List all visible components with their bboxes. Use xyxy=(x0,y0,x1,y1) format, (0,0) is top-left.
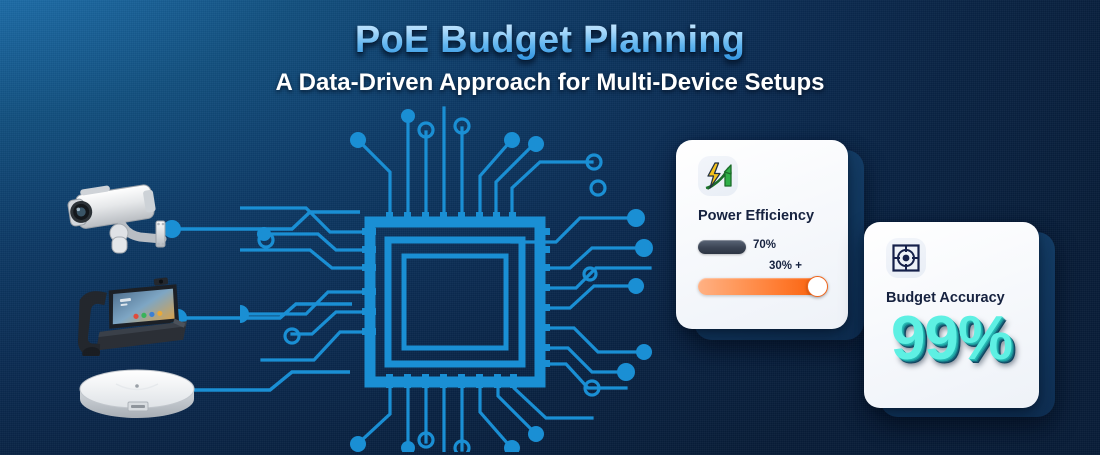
card-surface: Power Efficiency 70% 30% + xyxy=(676,140,848,329)
target-crosshair-icon xyxy=(886,238,926,278)
accuracy-value: 99% xyxy=(864,308,1039,370)
device-ip-phone[interactable] xyxy=(74,271,204,356)
card-surface: Budget Accuracy 99% xyxy=(864,222,1039,408)
efficiency-progress-label: 70% xyxy=(753,239,776,251)
efficiency-slider[interactable] xyxy=(698,278,826,295)
device-wireless-access-point[interactable] xyxy=(72,362,202,420)
page-title: PoE Budget Planning xyxy=(0,20,1100,61)
hero-banner: Power Efficiency 70% 30% + Budget Accura… xyxy=(0,0,1100,455)
device-ip-camera[interactable] xyxy=(62,163,202,263)
budget-accuracy-card[interactable]: Budget Accuracy 99% xyxy=(864,222,1064,422)
slider-knob[interactable] xyxy=(807,276,828,297)
efficiency-progress-bar[interactable] xyxy=(698,240,746,254)
power-efficiency-card[interactable]: Power Efficiency 70% 30% + xyxy=(676,140,866,340)
processor-chip-graphic xyxy=(240,92,670,452)
lightning-growth-icon xyxy=(698,156,738,196)
header: PoE Budget Planning A Data-Driven Approa… xyxy=(0,20,1100,97)
card-title: Power Efficiency xyxy=(698,208,814,224)
page-subtitle: A Data-Driven Approach for Multi-Device … xyxy=(0,69,1100,97)
slider-value-label: 30% + xyxy=(769,260,802,272)
